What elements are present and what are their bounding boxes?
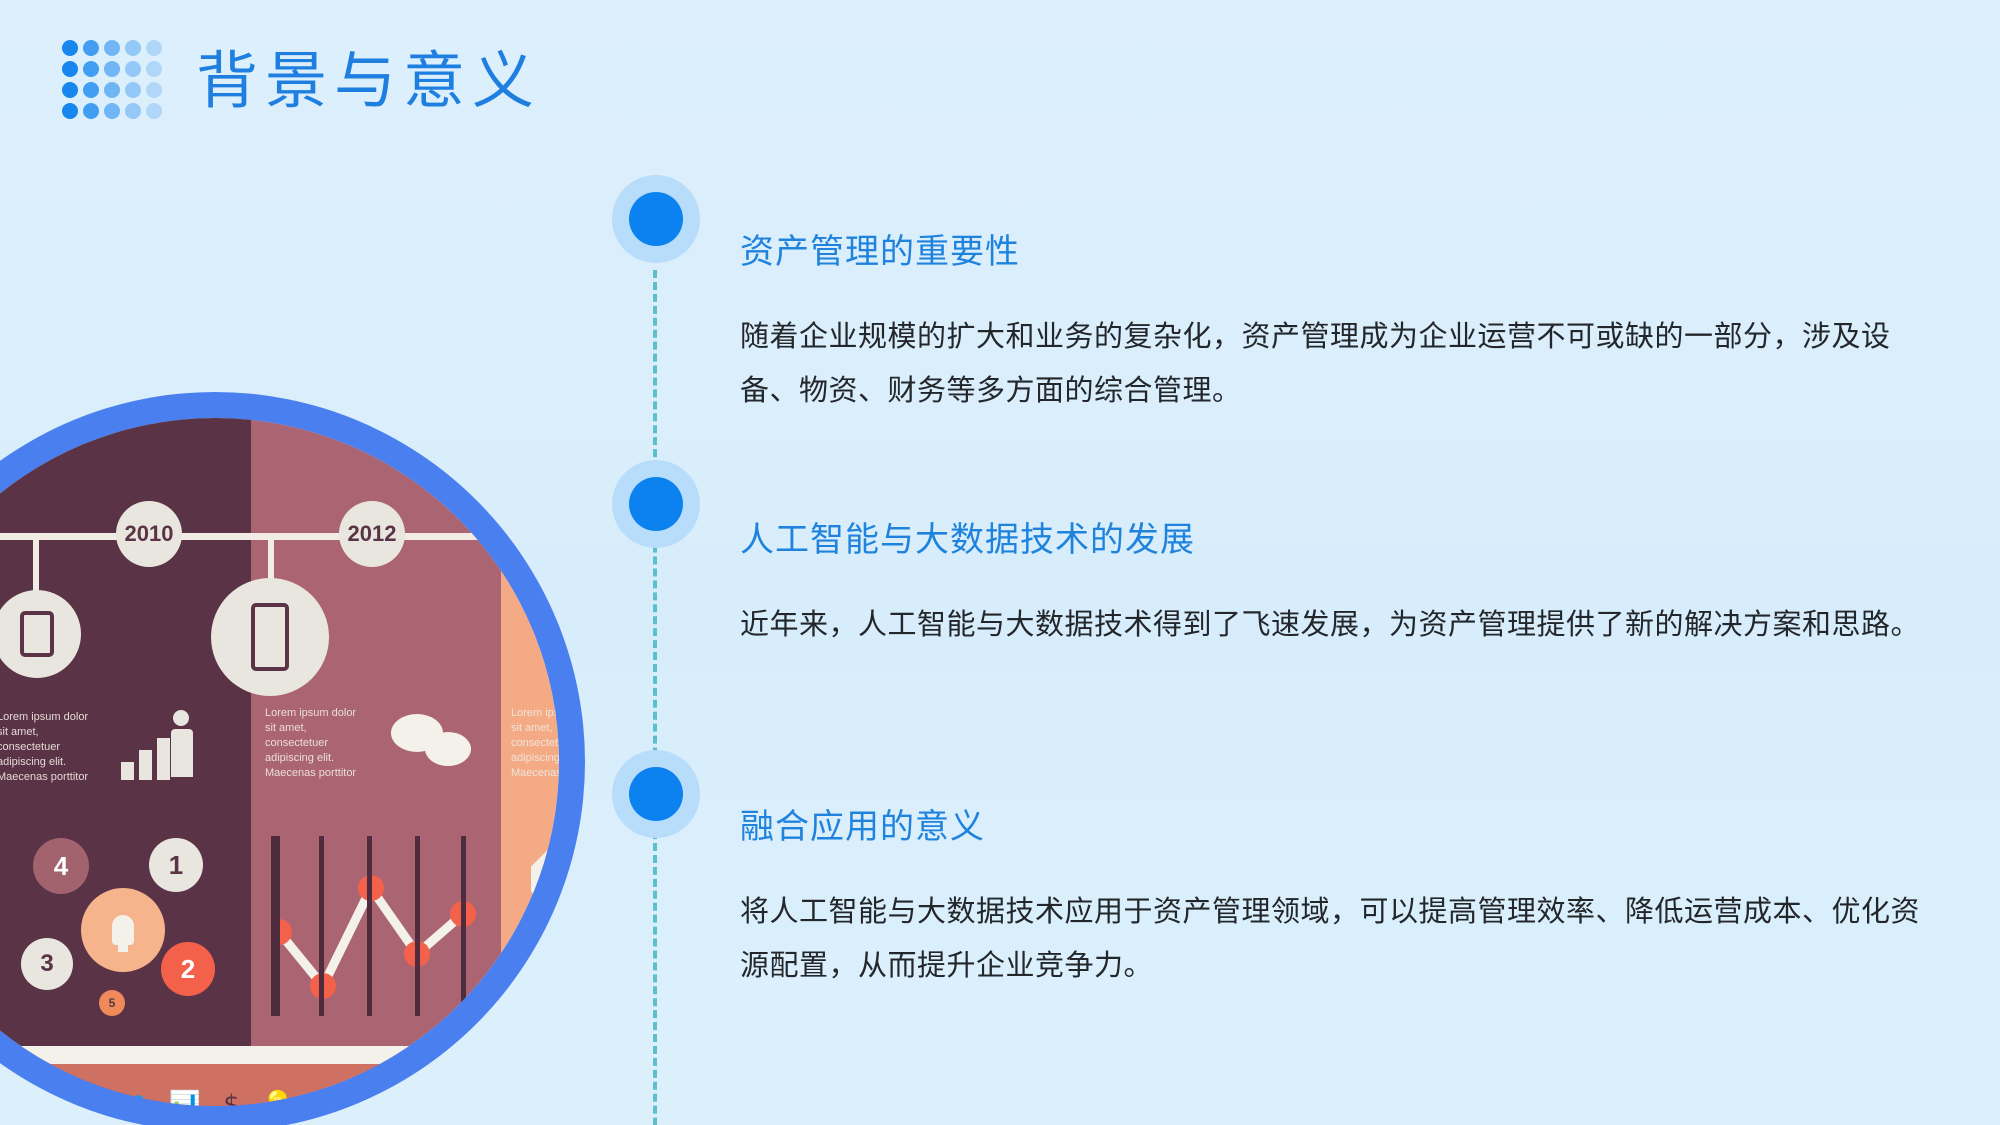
- section-bullet-3[interactable]: [612, 750, 700, 838]
- grid-dot: [62, 61, 78, 77]
- image-clip: 2008 2010 2012 Lorem ipsum dolor sit ame…: [0, 418, 559, 1106]
- idea-node-3: 3: [21, 938, 73, 990]
- dot-grid-decoration: [62, 40, 167, 124]
- grid-dot: [83, 40, 99, 56]
- infographic-circle-image: 2008 2010 2012 Lorem ipsum dolor sit ame…: [0, 392, 585, 1125]
- section-body: 将人工智能与大数据技术应用于资产管理领域，可以提高管理效率、降低运营成本、优化资…: [740, 885, 1920, 993]
- chart-gridline: [461, 836, 466, 1016]
- grid-dot: [62, 103, 78, 119]
- grid-dot: [104, 82, 120, 98]
- grid-dot: [62, 82, 78, 98]
- grid-dot: [104, 103, 120, 119]
- smartphone-icon: [211, 578, 329, 696]
- person-info-icon: 👤: [6, 1090, 38, 1106]
- section-body: 随着企业规模的扩大和业务的复杂化，资产管理成为企业运营不可或缺的一部分，涉及设备…: [740, 310, 1920, 418]
- grid-dot: [146, 61, 162, 77]
- bar-chart-icon: 📊: [169, 1090, 201, 1106]
- chart-gridline: [367, 836, 372, 1016]
- section-body: 近年来，人工智能与大数据技术得到了飞速发展，为资产管理提供了新的解决方案和思路。: [740, 598, 1990, 652]
- section-heading: 融合应用的意义: [740, 805, 1910, 851]
- footer-icon-row-top: 👤 👤 👤 👤 👥 📊 $ 💡 € ●: [0, 1090, 559, 1106]
- section-block-1: 资产管理的重要性 随着企业规模的扩大和业务的复杂化，资产管理成为企业运营不可或缺…: [740, 230, 1910, 418]
- grid-dot: [83, 82, 99, 98]
- infographic-text-block: Lorem ipsum dolor sit amet, consectetuer…: [265, 706, 370, 781]
- grid-dot: [146, 82, 162, 98]
- bulb-glyph: [112, 915, 134, 945]
- grid-dot: [125, 61, 141, 77]
- bar: [157, 738, 170, 780]
- idea-node-2: 2: [161, 942, 215, 996]
- timeline-rail: [0, 533, 559, 540]
- grid-dot: [125, 82, 141, 98]
- grid-dot: [83, 61, 99, 77]
- grid-dot: [104, 61, 120, 77]
- section-heading: 人工智能与大数据技术的发展: [740, 518, 1910, 564]
- bar: [121, 762, 134, 780]
- person-body: [171, 729, 193, 777]
- circle-icon: ●: [355, 1090, 378, 1106]
- lightbulb-icon: [81, 888, 165, 972]
- group-icon: 👥: [115, 1090, 147, 1106]
- section-block-2: 人工智能与大数据技术的发展 近年来，人工智能与大数据技术得到了飞速发展，为资产管…: [740, 518, 1910, 652]
- grid-dot: [83, 103, 99, 119]
- slide-root: 背景与意义 2008 2010 2012: [0, 0, 2000, 1125]
- chart-gridline: [415, 836, 420, 1016]
- grid-dot: [104, 40, 120, 56]
- person-head: [173, 710, 189, 726]
- section-block-3: 融合应用的意义 将人工智能与大数据技术应用于资产管理领域，可以提高管理效率、降低…: [740, 805, 1910, 993]
- bullet-core-icon: [629, 767, 683, 821]
- chart-gridline: [319, 836, 324, 1016]
- infographic-content: 2008 2010 2012 Lorem ipsum dolor sit ame…: [0, 418, 559, 1106]
- dashed-connector-line: [653, 270, 657, 1125]
- idea-cluster-diagram: 4 1 3 2 5: [21, 838, 251, 1018]
- chat-bubble-small: [425, 732, 471, 766]
- idea-node-4: 4: [33, 838, 89, 894]
- infographic-text-block: Lorem ipsum dolor sit amet, consectetuer…: [0, 710, 102, 785]
- bullet-core-icon: [629, 192, 683, 246]
- business-person-icon: 👤: [60, 1090, 92, 1106]
- timeline-year-node: 2010: [116, 501, 182, 567]
- grid-dot: [125, 40, 141, 56]
- section-heading: 资产管理的重要性: [740, 230, 1910, 276]
- tablet-screen: [20, 611, 54, 657]
- grid-dot: [62, 40, 78, 56]
- grid-dot: [146, 103, 162, 119]
- idea-node-5: 5: [99, 990, 125, 1016]
- slide-header: 背景与意义: [0, 0, 2000, 160]
- bullet-core-icon: [629, 477, 683, 531]
- timeline-connector: [600, 175, 700, 1075]
- timeline-year-node: 2012: [339, 501, 405, 567]
- grid-dot: [125, 103, 141, 119]
- grid-dot: [146, 40, 162, 56]
- section-bullet-1[interactable]: [612, 175, 700, 263]
- phone-screen: [251, 603, 289, 671]
- lightbulb-icon: 💡: [262, 1090, 294, 1106]
- person-icon: [171, 710, 191, 780]
- page-title: 背景与意义: [196, 46, 541, 118]
- bar-chart-icon: [121, 738, 170, 780]
- line-chart-graphic: [271, 836, 491, 1016]
- section-bullet-2[interactable]: [612, 460, 700, 548]
- infographic-divider: [0, 1046, 559, 1064]
- euro-icon: €: [316, 1090, 333, 1106]
- dollar-icon: $: [223, 1090, 240, 1106]
- infographic-text-block: Lorem ipsum dolor sit amet, consectetuer…: [511, 706, 559, 781]
- idea-node-1: 1: [149, 838, 203, 892]
- chart-gridline: [271, 836, 276, 1016]
- bar: [139, 750, 152, 780]
- zigzag-polyline: [271, 836, 491, 1016]
